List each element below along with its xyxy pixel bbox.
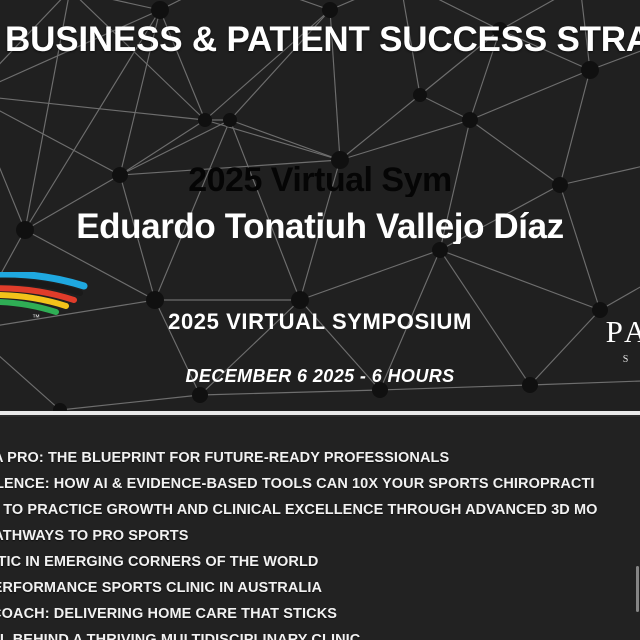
partner-logo-word: PA — [572, 316, 640, 347]
list-item[interactable]: LIKE A PRO: THE BLUEPRINT FOR FUTURE-REA… — [0, 445, 640, 471]
overlay-title-dark-text: 2025 Virtual Sym — [188, 163, 452, 197]
list-item[interactable]: ARE COACH: DELIVERING HOME CARE THAT STI… — [0, 601, 640, 627]
banner-headline-text: , BUSINESS & PATIENT SUCCESS STRATE — [0, 22, 640, 57]
banner-headline: , BUSINESS & PATIENT SUCCESS STRATE — [0, 22, 640, 57]
event-date-text: DECEMBER 6 2025 - 6 HOURS — [185, 366, 454, 386]
scrollbar-thumb[interactable] — [636, 566, 639, 612]
list-item[interactable]: PRACTIC IN EMERGING CORNERS OF THE WORLD — [0, 549, 640, 575]
event-name-text: 2025 VIRTUAL SYMPOSIUM — [168, 309, 472, 334]
list-item[interactable]: GH-PERFORMANCE SPORTS CLINIC IN AUSTRALI… — [0, 575, 640, 601]
list-item[interactable]: MODEL BEHIND A THRIVING MULTIDISCIPLINAR… — [0, 627, 640, 640]
overlay-title-dark: 2025 Virtual Sym — [0, 163, 640, 197]
session-list-panel: LIKE A PRO: THE BLUEPRINT FOR FUTURE-REA… — [0, 418, 640, 640]
partner-logo-subtitle: S — [572, 355, 640, 365]
list-item[interactable]: OACH TO PRACTICE GROWTH AND CLINICAL EXC… — [0, 497, 640, 523]
session-list[interactable]: LIKE A PRO: THE BLUEPRINT FOR FUTURE-REA… — [0, 445, 640, 640]
symposium-promo-page: , BUSINESS & PATIENT SUCCESS STRATE 2025… — [0, 0, 640, 640]
event-name: 2025 VIRTUAL SYMPOSIUM — [0, 311, 640, 334]
event-date: DECEMBER 6 2025 - 6 HOURS — [0, 367, 640, 387]
list-item[interactable]: XCELLENCE: HOW AI & EVIDENCE-BASED TOOLS… — [0, 471, 640, 497]
speaker-name: Eduardo Tonatiuh Vallejo Díaz — [0, 209, 640, 244]
speaker-name-text: Eduardo Tonatiuh Vallejo Díaz — [76, 209, 564, 244]
vertical-scrollbar[interactable] — [635, 0, 640, 640]
hero-section: , BUSINESS & PATIENT SUCCESS STRATE 2025… — [0, 0, 640, 412]
section-divider — [0, 411, 640, 415]
partner-logo: PA S — [572, 316, 640, 365]
list-item[interactable]: ICE PATHWAYS TO PRO SPORTS — [0, 523, 640, 549]
